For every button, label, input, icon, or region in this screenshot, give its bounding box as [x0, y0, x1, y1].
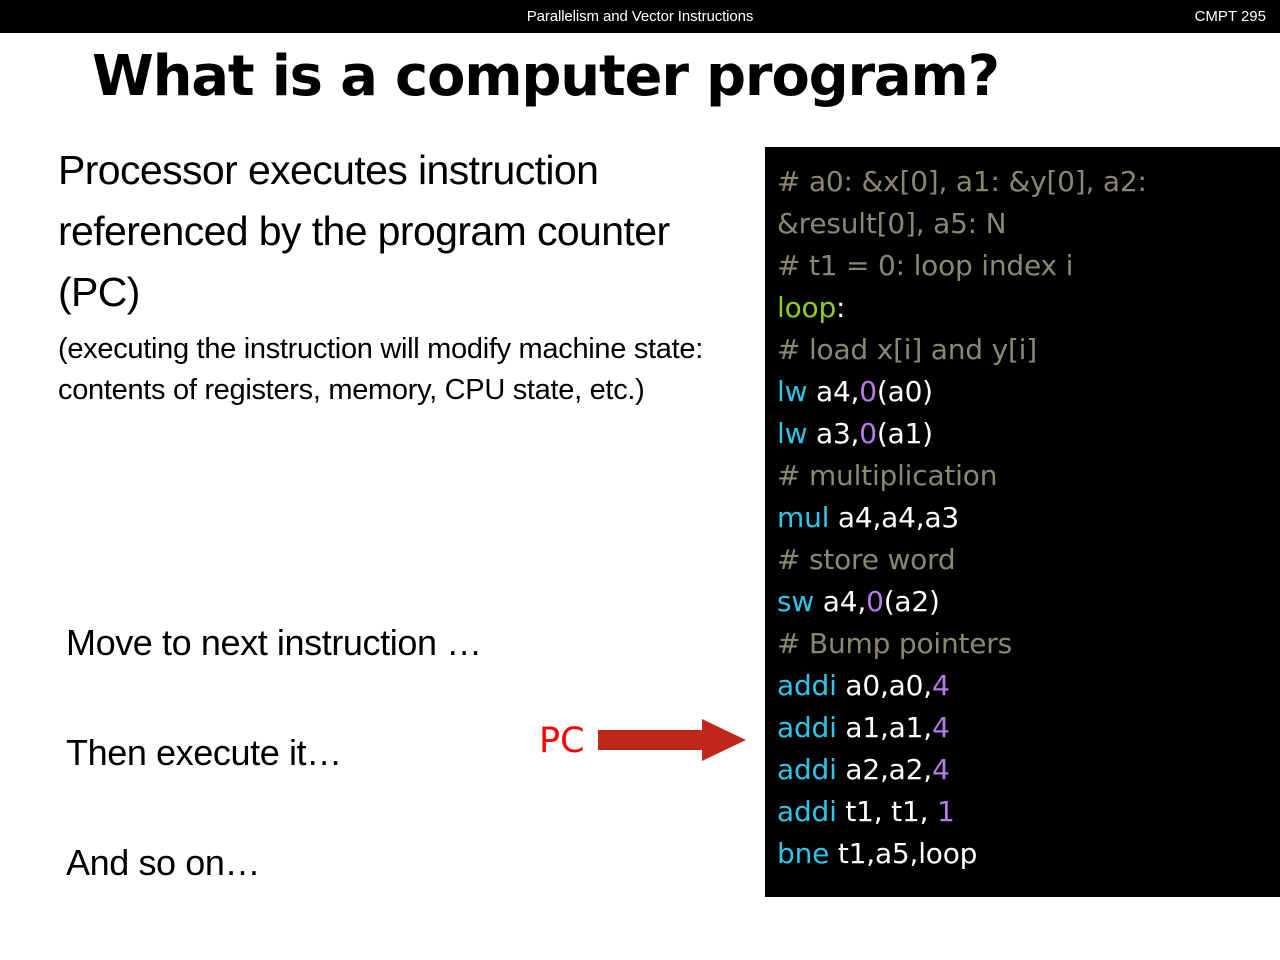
code-token-mnem: sw [777, 585, 814, 618]
code-line: # load x[i] and y[i] [777, 329, 1280, 371]
code-line: addi a2,a2,4 [777, 749, 1280, 791]
code-token-reg: t1,a5,loop [829, 837, 977, 870]
code-line: # multiplication [777, 455, 1280, 497]
code-token-label: loop [777, 291, 836, 324]
code-line: mul a4,a4,a3 [777, 497, 1280, 539]
code-line: sw a4,0(a2) [777, 581, 1280, 623]
code-token-comment: # Bump pointers [777, 627, 1012, 660]
code-token-mnem: addi [777, 753, 837, 786]
assembly-code-panel: # a0: &x[0], a1: &y[0], a2:&result[0], a… [765, 147, 1280, 897]
step-and-so-on: And so on… [66, 842, 260, 884]
code-token-punct: : [836, 291, 845, 324]
code-line: # store word [777, 539, 1280, 581]
code-token-mnem: addi [777, 795, 837, 828]
code-token-reg: (a1) [877, 417, 933, 450]
code-token-comment: &result[0], a5: N [777, 207, 1006, 240]
code-line: addi t1, t1, 1 [777, 791, 1280, 833]
code-token-num: 4 [932, 711, 950, 744]
code-line: lw a4,0(a0) [777, 371, 1280, 413]
code-token-reg: a3, [807, 417, 859, 450]
code-token-num: 4 [932, 669, 950, 702]
code-line: # a0: &x[0], a1: &y[0], a2: [777, 161, 1280, 203]
code-token-mnem: lw [777, 417, 807, 450]
code-line: # Bump pointers [777, 623, 1280, 665]
step-then-execute-it: Then execute it… [66, 732, 342, 774]
code-line: bne t1,a5,loop [777, 833, 1280, 875]
code-token-reg: a4, [814, 585, 866, 618]
sub-paragraph: (executing the instruction will modify m… [58, 329, 748, 411]
pc-arrow-icon [598, 718, 746, 762]
code-token-num: 1 [937, 795, 955, 828]
code-line: # t1 = 0: loop index i [777, 245, 1280, 287]
code-token-comment: # store word [777, 543, 956, 576]
header-course-code: CMPT 295 [1195, 0, 1266, 33]
code-token-num: 0 [859, 417, 877, 450]
code-token-reg: (a0) [877, 375, 933, 408]
code-token-mnem: lw [777, 375, 807, 408]
code-token-reg: (a2) [884, 585, 940, 618]
code-token-num: 0 [859, 375, 877, 408]
code-token-reg: a1,a1, [837, 711, 932, 744]
code-token-comment: # load x[i] and y[i] [777, 333, 1037, 366]
header-course-title: Parallelism and Vector Instructions [0, 0, 1280, 33]
slide-header-bar: Parallelism and Vector Instructions CMPT… [0, 0, 1280, 33]
pc-label: PC [539, 721, 585, 761]
code-token-reg: t1, t1, [837, 795, 937, 828]
code-token-mnem: bne [777, 837, 829, 870]
code-token-reg: a4, [807, 375, 859, 408]
code-token-comment: # multiplication [777, 459, 997, 492]
code-line: loop: [777, 287, 1280, 329]
code-token-num: 4 [932, 753, 950, 786]
code-line: addi a0,a0,4 [777, 665, 1280, 707]
lead-paragraph: Processor executes instruction reference… [58, 140, 748, 323]
code-token-comment: # a0: &x[0], a1: &y[0], a2: [777, 165, 1147, 198]
code-token-mnem: addi [777, 711, 837, 744]
code-line: &result[0], a5: N [777, 203, 1280, 245]
step-move-to-next-instruction: Move to next instruction … [66, 622, 482, 664]
code-line: addi a1,a1,4 [777, 707, 1280, 749]
code-token-reg: a4,a4,a3 [829, 501, 959, 534]
code-token-comment: # t1 = 0: loop index i [777, 249, 1073, 282]
code-line-list: # a0: &x[0], a1: &y[0], a2:&result[0], a… [777, 161, 1280, 875]
page-title: What is a computer program? [92, 48, 999, 107]
code-token-mnem: addi [777, 669, 837, 702]
code-token-reg: a2,a2, [837, 753, 932, 786]
code-line: lw a3,0(a1) [777, 413, 1280, 455]
code-token-mnem: mul [777, 501, 829, 534]
code-token-reg: a0,a0, [837, 669, 932, 702]
left-content-column: Processor executes instruction reference… [58, 140, 748, 411]
code-token-num: 0 [866, 585, 884, 618]
